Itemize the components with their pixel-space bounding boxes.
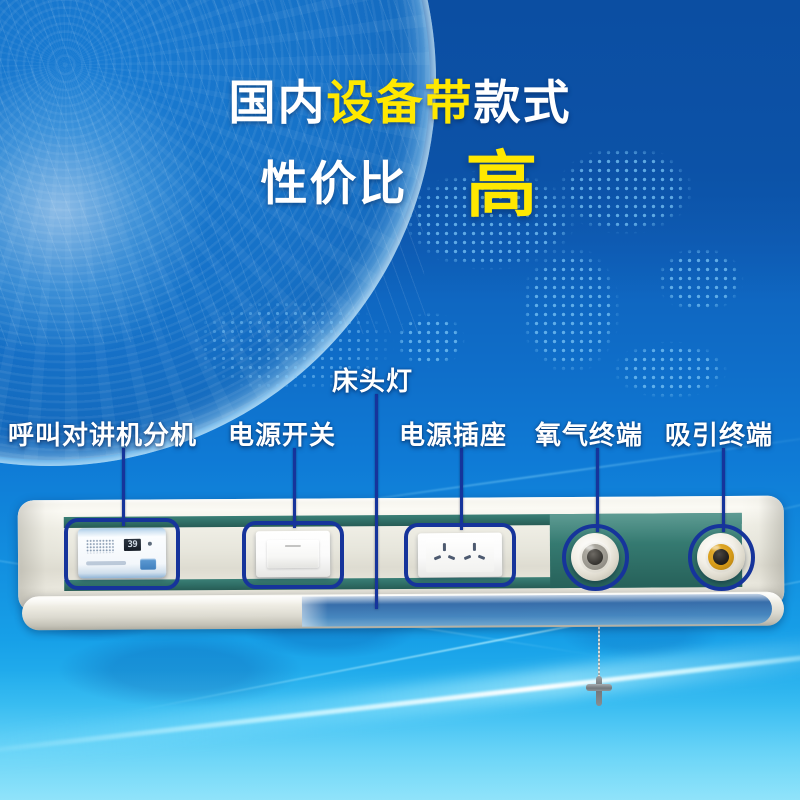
terminal-highlight <box>711 545 720 550</box>
speaker-grille-icon <box>86 539 114 553</box>
headline-line-1: 国内设备带款式 <box>0 78 800 127</box>
terminal-port-core <box>587 549 603 565</box>
headline-seg-2: 设备带 <box>327 76 474 129</box>
socket-pin-icon <box>473 543 476 551</box>
rocker-switch[interactable] <box>267 540 319 568</box>
terminal-port-core <box>713 549 729 565</box>
leader-line-suction <box>722 448 725 532</box>
callout-label-power-socket: 电源插座 <box>399 415 507 452</box>
headline-emphasis: 高 <box>465 146 539 226</box>
intercom-vent-slot <box>86 561 126 565</box>
intercom-display: 39 <box>124 539 141 551</box>
socket-pin-icon <box>448 555 456 560</box>
socket-face <box>426 538 494 573</box>
socket-pin-icon <box>464 555 472 560</box>
socket-pin-icon <box>443 543 446 551</box>
leader-line-oxygen <box>596 448 599 532</box>
terminal-highlight <box>585 545 594 550</box>
promo-banner: 国内设备带款式 性价比高 呼叫对讲机分机 电源开关 床头灯 电源插座 氧气终端 … <box>0 0 800 800</box>
pendant-horizontal-bar <box>586 684 612 691</box>
leader-line-intercom <box>122 448 125 526</box>
callout-label-bed-lamp: 床头灯 <box>332 361 413 398</box>
socket-outlet-right[interactable] <box>462 542 488 568</box>
power-socket-unit[interactable] <box>418 533 502 578</box>
callout-label-oxygen: 氧气终端 <box>535 415 643 452</box>
headline-seg-3: 款式 <box>474 76 572 129</box>
panel-bottom-rail <box>22 592 784 631</box>
oxygen-terminal-unit[interactable] <box>571 533 619 581</box>
socket-pin-icon <box>434 555 442 560</box>
pendant-vertical-bar <box>596 676 602 706</box>
socket-pin-icon <box>478 555 486 560</box>
headline-block: 国内设备带款式 性价比高 <box>0 78 800 225</box>
leader-line-power-switch <box>293 448 296 528</box>
headline-subtitle: 性价比 <box>260 157 407 210</box>
headline-seg-1: 国内 <box>229 76 327 129</box>
callout-label-intercom: 呼叫对讲机分机 <box>8 415 197 452</box>
headline-line-2: 性价比高 <box>0 149 800 225</box>
callout-label-power-switch: 电源开关 <box>228 415 336 452</box>
intercom-call-button[interactable] <box>140 559 156 570</box>
nurse-call-intercom-unit[interactable]: 39 <box>78 528 167 579</box>
socket-outlet-left[interactable] <box>432 542 458 568</box>
leader-line-bed-lamp <box>375 394 378 609</box>
indicator-led-icon <box>148 542 152 546</box>
callout-label-suction: 吸引终端 <box>665 415 773 452</box>
power-switch-unit[interactable] <box>256 531 330 578</box>
suction-terminal-unit[interactable] <box>697 533 745 581</box>
bottom-glow <box>0 670 800 800</box>
cord-pendant <box>586 676 612 706</box>
leader-line-power-socket <box>460 448 463 530</box>
